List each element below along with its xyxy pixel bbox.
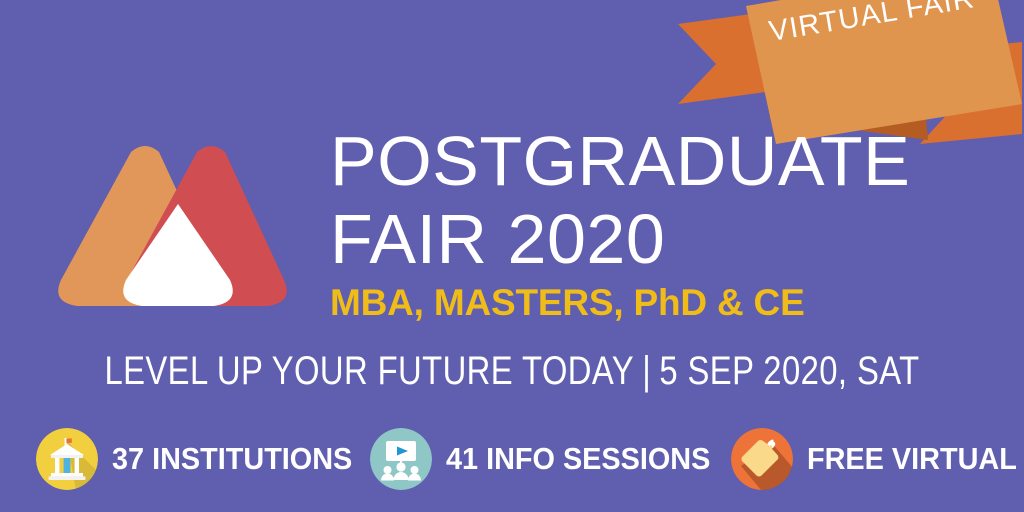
- tagline-text: LEVEL UP YOUR FUTURE TODAY: [104, 349, 634, 393]
- badge-institutions-label: 37 INSTITUTIONS: [112, 441, 352, 477]
- page-title-line2: FAIR 2020: [330, 200, 990, 278]
- tagline-row: LEVEL UP YOUR FUTURE TODAY|5 SEP 2020, S…: [92, 348, 932, 394]
- badge-info-sessions-label: 41 INFO SESSIONS: [446, 441, 710, 477]
- badge-free-virtual-fair-label: FREE VIRTUAL FAIR: [807, 441, 1024, 477]
- price-tag-icon: [731, 428, 793, 490]
- badge-info-sessions: 41 INFO SESSIONS: [370, 424, 730, 494]
- event-date: 5 SEP 2020, SAT: [659, 349, 919, 393]
- badge-free-virtual-fair: FREE VIRTUAL FAIR: [731, 424, 1024, 494]
- badge-institutions: 37 INSTITUTIONS: [36, 424, 370, 494]
- tagline-separator: |: [634, 348, 659, 394]
- postgraduate-fair-logo: [50, 140, 306, 318]
- headline-block: POSTGRADUATE FAIR 2020 MBA, MASTERS, PhD…: [330, 122, 990, 324]
- page-subtitle: MBA, MASTERS, PhD & CE: [330, 282, 990, 324]
- page-title-line1: POSTGRADUATE: [330, 122, 990, 200]
- poster-canvas: VIRTUAL FAIR POSTGRADUATE FAIR 2020 MBA,…: [0, 0, 1024, 512]
- badge-row: 37 INSTITUTIONS 41 INFO SESSIO: [36, 424, 996, 494]
- presentation-audience-icon: [370, 428, 432, 490]
- institution-building-icon: [36, 428, 98, 490]
